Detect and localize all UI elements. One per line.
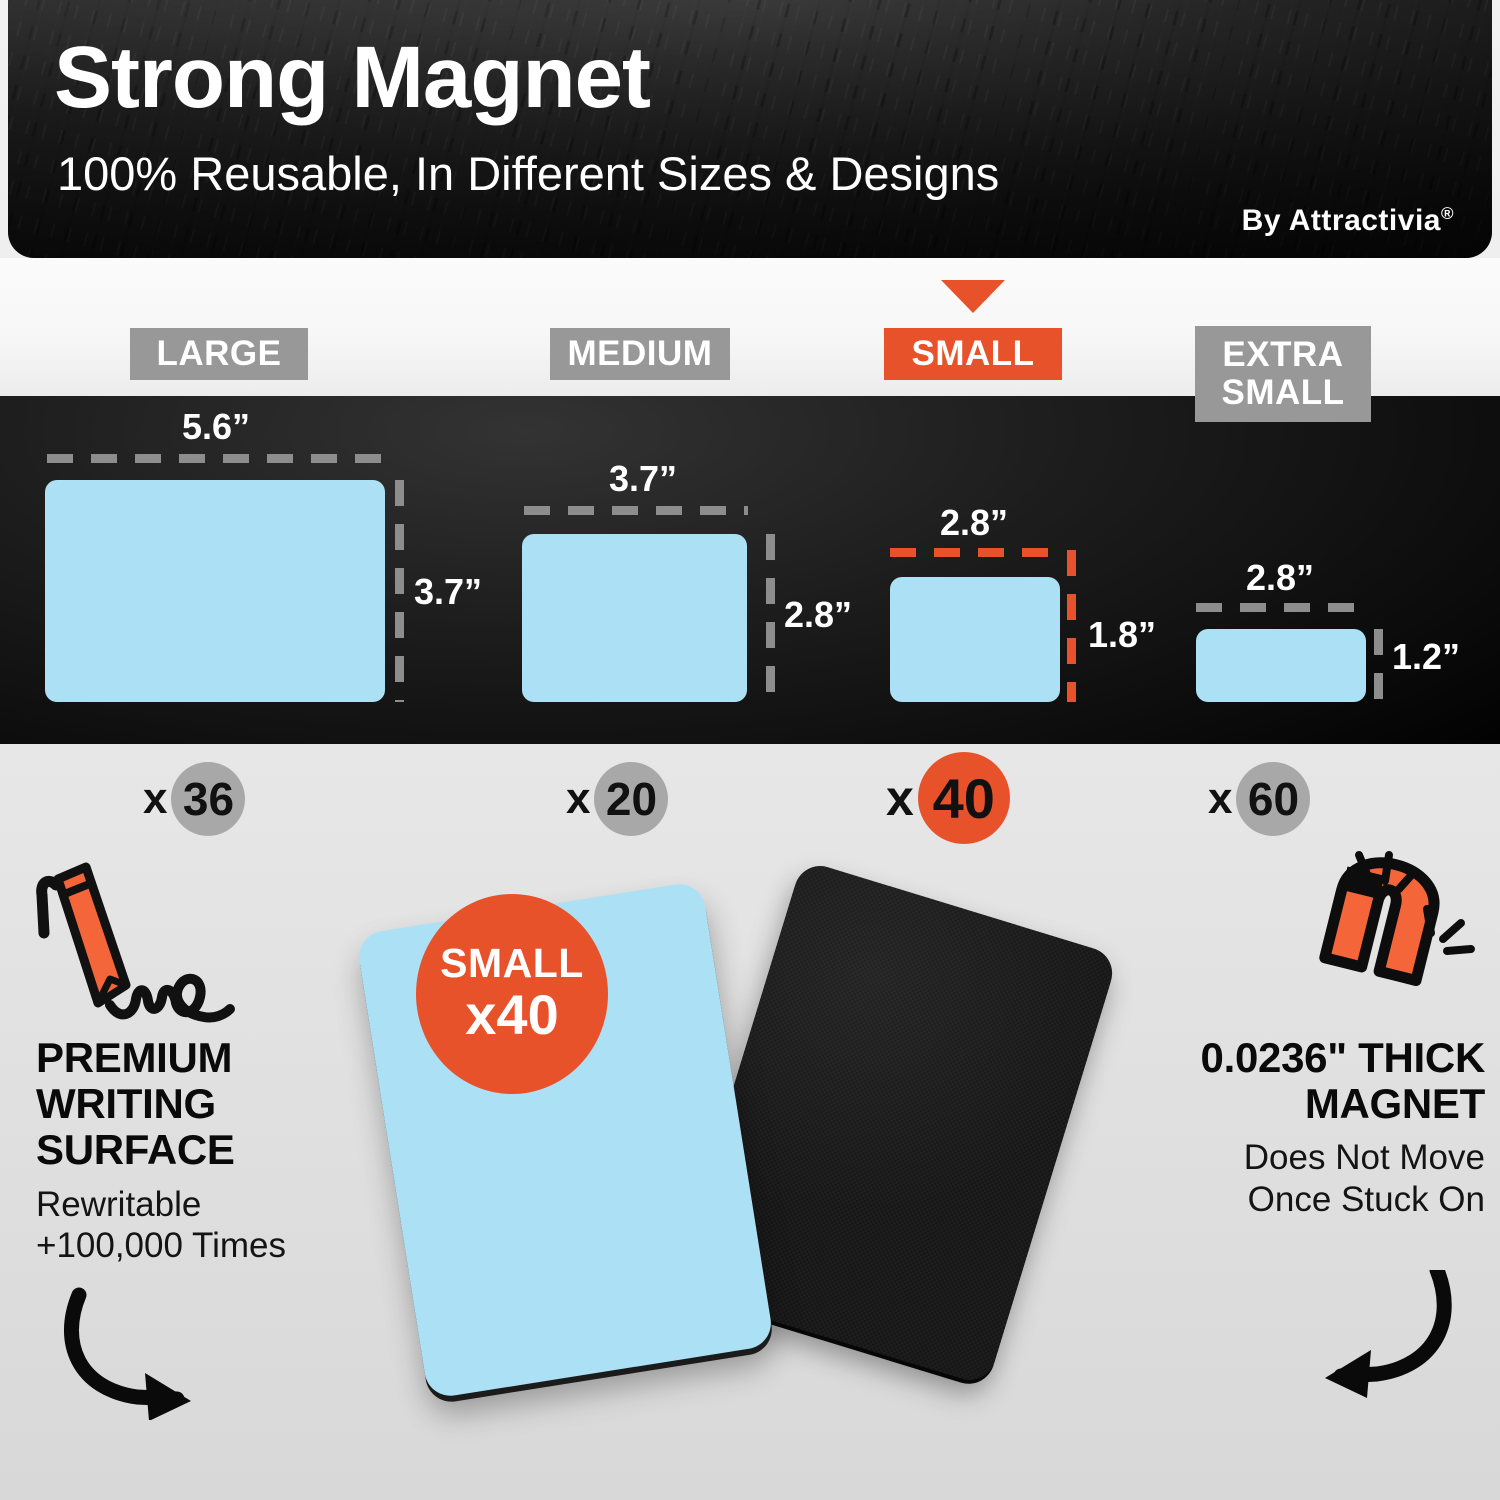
size-large-width-label: 5.6” <box>182 406 250 448</box>
size-tab-small[interactable]: SMALL <box>884 328 1062 380</box>
size-tab-medium-label: MEDIUM <box>568 335 713 373</box>
feature-right-title: 0.0236" THICK MAGNET <box>1130 1035 1485 1127</box>
size-card-medium <box>522 534 747 702</box>
product-size-badge: SMALL x40 <box>416 894 608 1094</box>
page-title: Strong Magnet <box>54 34 650 121</box>
size-small-height-label: 1.8” <box>1088 614 1156 656</box>
size-tab-small-label: SMALL <box>911 335 1034 373</box>
feature-left-subtitle: Rewritable +100,000 Times <box>36 1184 366 1267</box>
horseshoe-magnet-icon <box>1285 845 1495 1025</box>
size-large-width-dashline <box>47 454 385 463</box>
quantity-extra-small-value: 60 <box>1236 762 1310 836</box>
size-card-extra-small <box>1196 629 1366 702</box>
quantity-medium-prefix: x <box>566 774 590 824</box>
quantity-medium: x 20 <box>566 762 668 836</box>
feature-right-subtitle: Does Not Move Once Stuck On <box>1130 1137 1485 1220</box>
size-extra-small-width-dashline <box>1196 603 1366 612</box>
size-tab-extra-small[interactable]: EXTRA SMALL <box>1195 326 1371 422</box>
size-small-width-dashline <box>890 548 1060 557</box>
quantity-extra-small-prefix: x <box>1208 774 1232 824</box>
size-small-width-label: 2.8” <box>940 502 1008 544</box>
size-medium-width-label: 3.7” <box>609 458 677 500</box>
size-card-large <box>45 480 385 702</box>
quantity-extra-small: x 60 <box>1208 762 1310 836</box>
size-large-height-label: 3.7” <box>414 571 482 613</box>
quantity-small: x 40 <box>886 752 1010 844</box>
quantity-medium-value: 20 <box>594 762 668 836</box>
size-medium-height-dashline <box>766 534 775 702</box>
infographic-page: Strong Magnet 100% Reusable, In Differen… <box>0 0 1500 1500</box>
curved-arrow-down-left-icon <box>1275 1270 1475 1410</box>
size-large-height-dashline <box>395 480 404 702</box>
active-size-pointer-icon <box>941 280 1005 313</box>
quantity-small-prefix: x <box>886 769 914 827</box>
quantity-row: x 36 x 20 x 40 x 60 <box>0 744 1500 854</box>
quantity-large: x 36 <box>143 762 245 836</box>
page-subtitle: 100% Reusable, In Different Sizes & Desi… <box>57 150 999 197</box>
feature-left-title: PREMIUM WRITING SURFACE <box>36 1035 366 1174</box>
product-badge-size-label: SMALL <box>440 943 584 984</box>
size-tab-medium[interactable]: MEDIUM <box>550 328 730 380</box>
brand-name: By Attractivia® <box>1242 204 1454 238</box>
size-extra-small-height-label: 1.2” <box>1392 636 1460 678</box>
brand-label: By Attractivia <box>1242 204 1441 237</box>
feature-thick-magnet: 0.0236" THICK MAGNET Does Not Move Once … <box>1130 1035 1485 1220</box>
size-tab-extra-small-label: EXTRA SMALL <box>1221 336 1344 412</box>
quantity-small-value: 40 <box>918 752 1010 844</box>
size-comparison-panel: 5.6” 3.7” 3.7” 2.8” 2.8” 1.8” 2.8” 1.2” <box>0 396 1500 744</box>
curved-arrow-down-right-icon <box>45 1285 245 1420</box>
pen-writing-icon <box>28 855 243 1025</box>
size-small-height-dashline <box>1067 550 1076 702</box>
size-tab-large-label: LARGE <box>157 335 282 373</box>
size-tab-strip: LARGE MEDIUM SMALL EXTRA SMALL <box>0 258 1500 398</box>
product-photo: SMALL x40 <box>330 870 1160 1490</box>
size-extra-small-height-dashline <box>1374 629 1383 702</box>
quantity-large-prefix: x <box>143 774 167 824</box>
size-card-small <box>890 577 1060 702</box>
size-medium-width-dashline <box>524 506 748 515</box>
header-banner: Strong Magnet 100% Reusable, In Differen… <box>8 0 1492 258</box>
quantity-large-value: 36 <box>171 762 245 836</box>
product-badge-count-label: x40 <box>465 986 558 1045</box>
feature-premium-writing-surface: PREMIUM WRITING SURFACE Rewritable +100,… <box>36 1035 366 1266</box>
size-medium-height-label: 2.8” <box>784 594 852 636</box>
size-extra-small-width-label: 2.8” <box>1246 557 1314 599</box>
size-tab-large[interactable]: LARGE <box>130 328 308 380</box>
registered-trademark-icon: ® <box>1441 204 1454 223</box>
